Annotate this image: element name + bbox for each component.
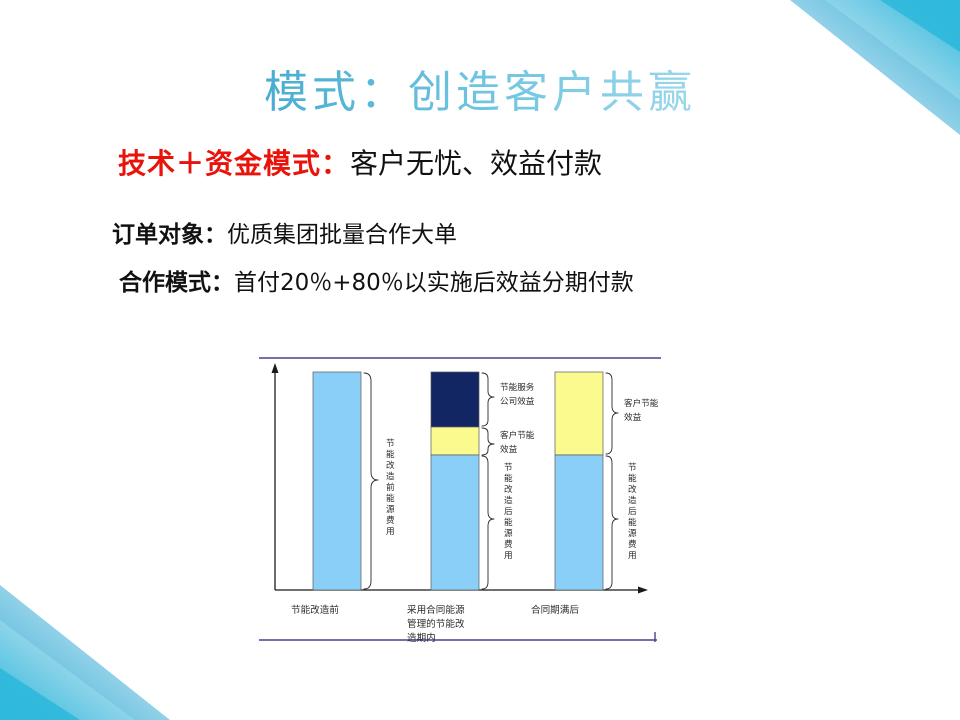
- bar-3-label-customer-benefit: 客户节能效益: [624, 397, 659, 423]
- bullet-list: 订单对象：优质集团批量合作大单 合作模式：首付20％+80％以实施后效益分期付款: [112, 222, 634, 317]
- x-axis-label-2: 采用合同能源管理的节能改造期内: [407, 604, 465, 644]
- bullet-value: 优质集团批量合作大单: [227, 222, 457, 248]
- bar-1-brace: [364, 373, 378, 589]
- bullet-value: 首付20％+80％以实施后效益分期付款: [234, 270, 634, 296]
- bar-3-label-post-retrofit-energy-cost: 节能改造后能源费用: [628, 462, 637, 561]
- bullet-item-order-object: 订单对象：优质集团批量合作大单: [112, 222, 634, 250]
- bar-2-segment-post-retrofit-energy-cost: [431, 455, 479, 590]
- bar-2-label-customer-benefit: 客户节能效益: [500, 429, 535, 455]
- bullet-key: 订单对象：: [112, 222, 227, 248]
- page-title: 模式：创造客户共赢: [0, 56, 960, 120]
- bar-group-3: 客户节能效益 节能改造后能源费用: [555, 372, 659, 590]
- bar-2-brace-esco: [482, 373, 494, 426]
- bar-group-1: 节能改造前能源费用: [313, 372, 395, 590]
- x-axis-label-3: 合同期满后: [531, 604, 579, 616]
- headline-red-text: 技术＋资金模式：: [118, 147, 350, 180]
- bar-2-label-post-retrofit-energy-cost: 节能改造后能源费用: [504, 462, 513, 561]
- bar-3-segment-customer-benefit: [555, 372, 603, 455]
- bar-2-segment-customer-benefit: [431, 427, 479, 455]
- x-axis-label-1: 节能改造前: [291, 604, 339, 616]
- bar-3-segment-post-retrofit-energy-cost: [555, 455, 603, 590]
- bar-2-label-esco-benefit: 节能服务公司效益: [500, 381, 535, 407]
- bar-2-brace-post-retrofit: [482, 456, 494, 589]
- bar-2-segment-esco-benefit: [431, 372, 479, 427]
- bullet-item-cooperation-mode: 合作模式：首付20％+80％以实施后效益分期付款: [112, 270, 634, 298]
- bar-3-brace-post-retrofit: [606, 456, 618, 589]
- bar-2-brace-customer: [482, 428, 494, 455]
- bullet-key: 合作模式：: [119, 270, 234, 296]
- headline-black-text: 客户无忧、效益付款: [350, 147, 602, 180]
- bar-1-label-pre-retrofit-energy-cost: 节能改造前能源费用: [386, 438, 395, 537]
- stacked-bar-chart: 节能改造前能源费用 节能服务公司效益 客户节能效益: [255, 350, 665, 650]
- y-axis: [272, 363, 279, 590]
- slide-canvas: 模式：创造客户共赢 技术＋资金模式：客户无忧、效益付款 订单对象：优质集团批量合…: [0, 0, 960, 720]
- bar-group-2: 节能服务公司效益 客户节能效益 节能改造后能源费用: [431, 372, 535, 590]
- bar-1-segment-pre-retrofit-energy-cost: [313, 372, 361, 590]
- headline: 技术＋资金模式：客户无忧、效益付款: [118, 146, 602, 181]
- decoration-bottom-left: [0, 585, 230, 720]
- bar-3-brace-customer: [606, 373, 618, 454]
